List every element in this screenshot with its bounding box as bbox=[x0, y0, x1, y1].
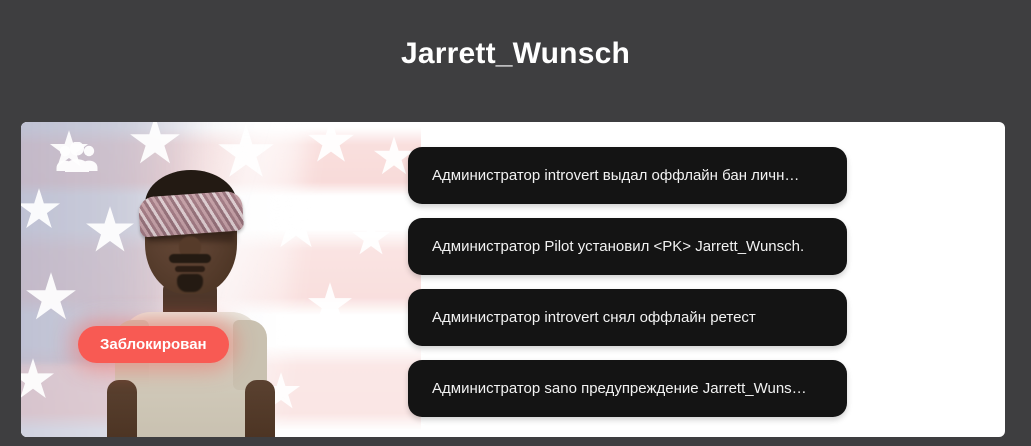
character-bandana bbox=[138, 190, 245, 237]
group-users-icon bbox=[55, 142, 99, 172]
page-root: Jarrett_Wunsch bbox=[0, 0, 1031, 446]
page-title: Jarrett_Wunsch bbox=[401, 39, 630, 69]
character-mouth bbox=[175, 266, 205, 272]
character-arm-left bbox=[107, 380, 137, 437]
log-entry-text: Администратор sano предупреждение Jarret… bbox=[432, 381, 807, 396]
character-beard bbox=[177, 274, 203, 292]
character-avatar bbox=[93, 144, 289, 437]
character-moustache bbox=[169, 254, 211, 263]
status-badge: Заблокирован bbox=[78, 326, 229, 363]
log-entry[interactable]: Администратор Pilot установил <PK> Jarre… bbox=[408, 218, 847, 275]
log-entry-text: Администратор introvert выдал оффлайн ба… bbox=[432, 168, 799, 183]
log-entry[interactable]: Администратор introvert выдал оффлайн ба… bbox=[408, 147, 847, 204]
log-entry[interactable]: Администратор introvert снял оффлайн рет… bbox=[408, 289, 847, 346]
log-entry-text: Администратор Pilot установил <PK> Jarre… bbox=[432, 239, 804, 254]
avatar-region: Заблокирован bbox=[21, 122, 421, 437]
character-arm-right bbox=[245, 380, 275, 437]
log-entry[interactable]: Администратор sano предупреждение Jarret… bbox=[408, 360, 847, 417]
log-entry-text: Администратор introvert снял оффлайн рет… bbox=[432, 310, 756, 325]
profile-panel: Заблокирован Администратор introvert выд… bbox=[21, 122, 1005, 437]
admin-log-list: Администратор introvert выдал оффлайн ба… bbox=[408, 147, 847, 417]
page-header: Jarrett_Wunsch bbox=[0, 0, 1031, 122]
